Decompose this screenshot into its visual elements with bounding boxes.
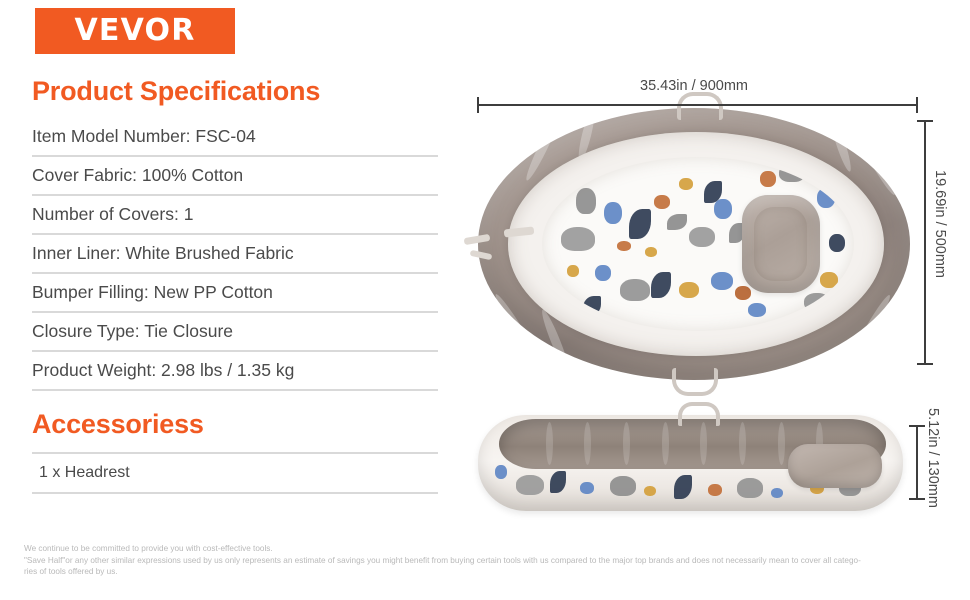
height-dimension-label: 5.12in / 130mm — [925, 408, 941, 508]
length-tick-top — [917, 120, 933, 122]
height-dimension-line — [916, 425, 918, 500]
height-tick-top — [909, 425, 925, 427]
width-dimension-line — [477, 104, 918, 106]
disclaimer-line-3: ries of tools offered by us. — [24, 566, 944, 578]
specification-list: Item Model Number: FSC-04 Cover Fabric: … — [32, 118, 438, 391]
specifications-heading: Product Specifications — [32, 76, 320, 107]
disclaimer-line-1: We continue to be committed to provide y… — [24, 543, 944, 555]
bumper-outer — [478, 108, 910, 380]
spec-row: Item Model Number: FSC-04 — [32, 118, 438, 157]
spec-row: Cover Fabric: 100% Cotton — [32, 157, 438, 196]
accessory-row: 1 x Headrest — [32, 452, 438, 494]
length-dimension-label: 19.69in / 500mm — [932, 170, 948, 278]
product-side-view — [478, 415, 903, 511]
tie-strap — [470, 250, 493, 260]
carry-handle-top-icon — [677, 92, 723, 120]
lounger-mattress — [542, 157, 854, 331]
carry-handle-bottom-icon — [672, 368, 718, 396]
vevor-logo: VEVOR — [35, 8, 235, 54]
headrest-pillow — [742, 195, 820, 292]
spec-row: Number of Covers: 1 — [32, 196, 438, 235]
length-dimension-line — [924, 120, 926, 365]
width-tick-left — [477, 97, 479, 113]
logo-text: VEVOR — [74, 16, 195, 46]
width-dimension-label: 35.43in / 900mm — [640, 78, 748, 94]
accessories-list: 1 x Headrest — [32, 452, 438, 494]
carry-handle-side-icon — [678, 402, 720, 426]
spec-row: Inner Liner: White Brushed Fabric — [32, 235, 438, 274]
disclaimer-text: We continue to be committed to provide y… — [24, 543, 944, 578]
product-top-view — [478, 108, 910, 380]
side-body — [478, 415, 903, 511]
spec-row: Product Weight: 2.98 lbs / 1.35 kg — [32, 352, 438, 391]
bumper-inner-rim — [508, 132, 884, 355]
spec-row: Bumper Filling: New PP Cotton — [32, 274, 438, 313]
accessories-heading: Accessoriess — [32, 409, 204, 440]
product-spec-page: VEVOR Product Specifications Accessories… — [0, 0, 970, 600]
disclaimer-line-2: "Save Half"or any other similar expressi… — [24, 555, 944, 567]
length-tick-bottom — [917, 363, 933, 365]
width-tick-right — [916, 97, 918, 113]
spec-row: Closure Type: Tie Closure — [32, 313, 438, 352]
height-tick-bottom — [909, 498, 925, 500]
headrest-pillow-side — [788, 444, 882, 488]
tie-strap — [464, 234, 491, 245]
